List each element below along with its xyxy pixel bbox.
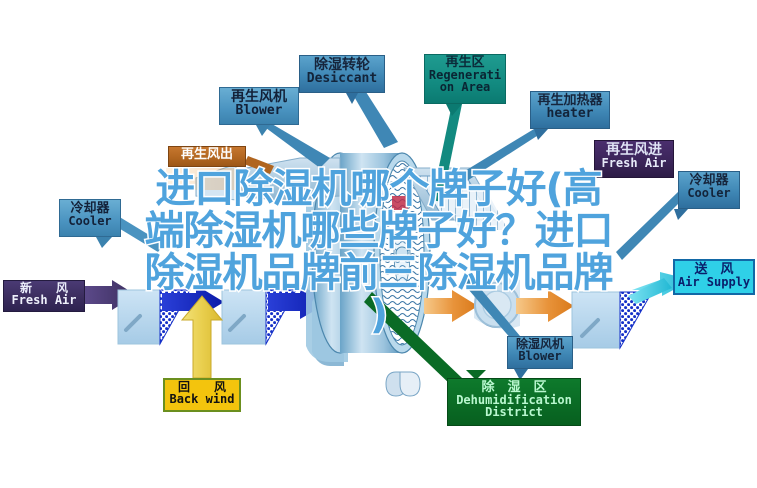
watermark-line-3: 除湿机品牌前三除湿机品牌 — [0, 252, 757, 294]
callout-back-wind: 回 风 Back wind — [163, 378, 241, 412]
callout-regeneration-blower-en: Blower — [220, 104, 298, 117]
callout-desiccant-wheel: 除湿转轮 Desiccant — [299, 55, 385, 93]
callout-desiccant-wheel-en: Desiccant — [300, 72, 384, 85]
callout-air-supply-cn: 送 风 — [675, 263, 753, 276]
callout-dehumidification-district-en2: District — [448, 406, 580, 418]
process-arrow-1 — [162, 285, 224, 319]
cooling-coil-1 — [118, 290, 190, 344]
callout-regeneration-area-cn: 再生区 — [425, 56, 505, 69]
callout-regeneration-heater-en: heater — [531, 107, 609, 120]
callout-cooler-left: 冷却器 Cooler — [59, 199, 121, 237]
callout-dehumidification-district-cn: 除 湿 区 — [448, 381, 580, 394]
cooling-coil-2 — [222, 290, 296, 344]
regeneration-heater-fins — [436, 186, 508, 230]
callout-regeneration-area-en2: on Area — [425, 81, 505, 93]
watermark-overlay-text: 进口除湿机哪个牌子好(高 端除湿机哪些牌子好？进口 除湿机品牌前三除湿机品牌 ) — [0, 168, 757, 336]
callout-regeneration-heater: 再生加热器 heater — [530, 91, 610, 129]
rotor-seal — [392, 196, 408, 210]
callout-regeneration-area: 再生区 Regenerati on Area — [424, 54, 506, 104]
callout-cooler-right-en: Cooler — [679, 187, 739, 199]
cooling-coil-3 — [572, 292, 652, 348]
callout-dehumidification-blower: 除湿风机 Blower — [507, 336, 573, 369]
fresh-air-arrow — [84, 280, 136, 310]
callout-air-supply: 送 风 Air Supply — [673, 259, 755, 295]
callout-air-supply-en: Air Supply — [675, 276, 753, 288]
callout-cooler-left-cn: 冷却器 — [60, 202, 120, 215]
schematic-image: 除湿转轮 Desiccant 再生风机 Blower 再生区 Regenerat… — [0, 0, 757, 488]
callout-tails — [96, 93, 688, 380]
leader-lines — [112, 92, 684, 386]
callout-regeneration-blower: 再生风机 Blower — [219, 87, 299, 125]
callout-regeneration-blower-cn: 再生风机 — [220, 90, 298, 104]
regeneration-heater-block — [404, 168, 500, 220]
callout-cooler-right-cn: 冷却器 — [679, 174, 739, 187]
callout-regeneration-air-in-en: Fresh Air — [595, 157, 673, 169]
callout-desiccant-wheel-cn: 除湿转轮 — [300, 58, 384, 72]
callout-cooler-left-en: Cooler — [60, 215, 120, 227]
callout-regeneration-air-in: 再生风进 Fresh Air — [594, 140, 674, 178]
process-arrow-2 — [268, 285, 330, 319]
watermark-line-4: ) — [0, 294, 757, 336]
callout-dehumidification-district: 除 湿 区 Dehumidification District — [447, 378, 581, 426]
rotor-out-arrow-1 — [424, 290, 478, 322]
supply-fan — [474, 276, 520, 329]
callout-cooler-right: 冷却器 Cooler — [678, 171, 740, 209]
callout-fresh-air-en: Fresh Air — [4, 294, 84, 306]
back-wind-arrow — [182, 296, 222, 378]
callout-regeneration-air-out-cn: 再生风出 — [169, 148, 245, 161]
callout-regeneration-heater-cn: 再生加热器 — [531, 94, 609, 107]
callout-regeneration-air-out: 再生风出 — [168, 146, 246, 167]
rotor-out-arrow-2 — [516, 290, 574, 322]
callout-dehumidification-blower-en: Blower — [508, 350, 572, 362]
desiccant-rotor — [306, 153, 430, 396]
callout-back-wind-en: Back wind — [165, 393, 239, 405]
callout-regeneration-air-in-cn: 再生风进 — [595, 143, 673, 157]
drain-pan — [386, 372, 420, 396]
callout-fresh-air: 新 风 Fresh Air — [3, 280, 85, 312]
